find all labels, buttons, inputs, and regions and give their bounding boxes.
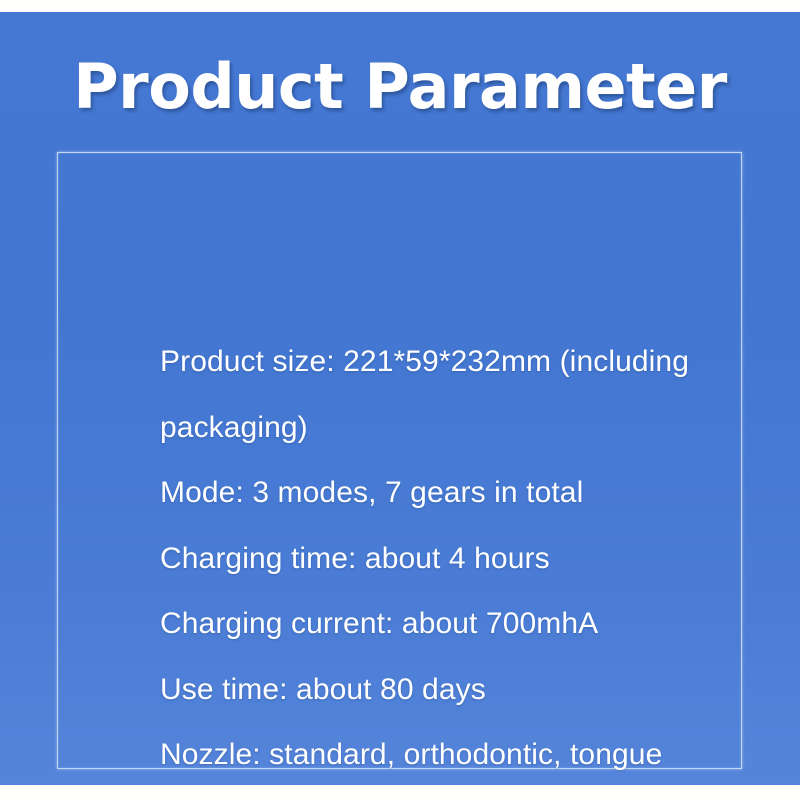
spec-line: Mode: 3 modes, 7 gears in total — [160, 460, 760, 526]
spec-line: packaging) — [160, 395, 760, 461]
page-title: Product Parameter — [0, 56, 800, 118]
blue-poster-panel: Product Parameter Product size: 221*59*2… — [0, 12, 800, 785]
spec-line: Charging time: about 4 hours — [160, 526, 760, 592]
spec-line: Use time: about 80 days — [160, 657, 760, 723]
spec-line: Nozzle: standard, orthodontic, tongue — [160, 722, 760, 785]
specification-frame: Product size: 221*59*232mm (including pa… — [57, 152, 742, 769]
spec-line: Charging current: about 700mhA — [160, 591, 760, 657]
specification-list: Product size: 221*59*232mm (including pa… — [160, 329, 760, 785]
poster-page: Product Parameter Product size: 221*59*2… — [0, 0, 800, 800]
spec-line: Product size: 221*59*232mm (including — [160, 329, 760, 395]
